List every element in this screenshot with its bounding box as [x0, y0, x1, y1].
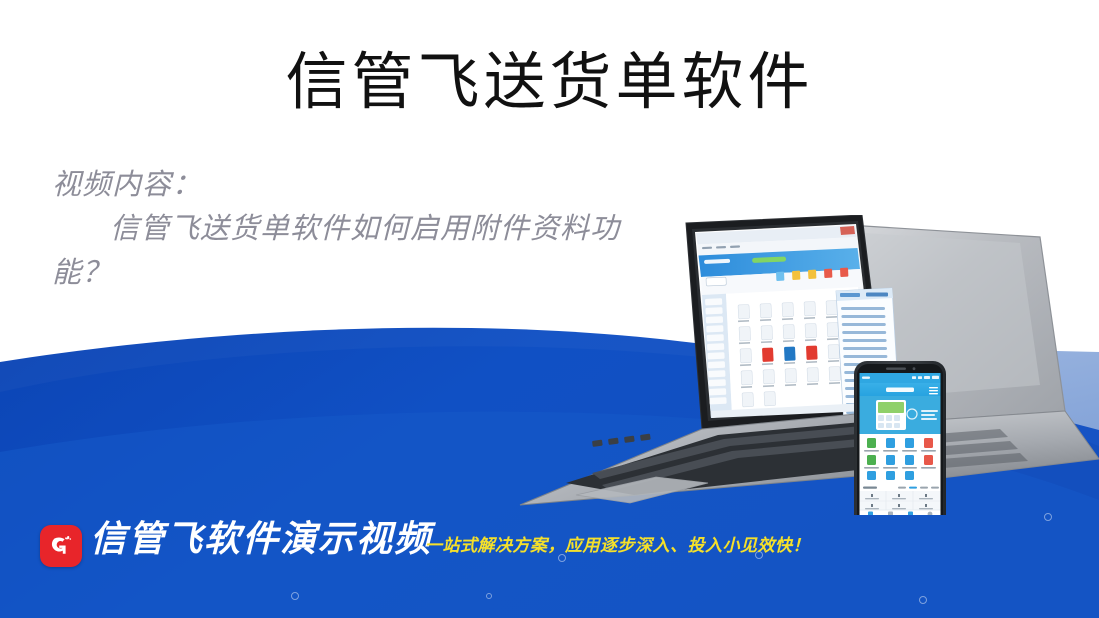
bottom-banner: 信管飞软件演示视频 一站式解决方案，应用逐步深入、投入小见效快！: [0, 525, 1099, 585]
phone-icon-grid: [860, 434, 941, 482]
hamburger-icon: [929, 387, 938, 394]
decor-dot: [919, 596, 927, 604]
slide-canvas: 信管飞送货单软件 视频内容： 信管飞送货单软件如何启用附件资料功能？ 信管飞软件…: [0, 0, 1099, 618]
page-title: 信管飞送货单软件: [0, 47, 1099, 119]
phone-app-header: [860, 373, 941, 396]
video-content-block: 视频内容： 信管飞送货单软件如何启用附件资料功能？: [52, 162, 652, 294]
decor-dot: [486, 593, 492, 599]
xinguanfei-bird-logo-icon: [40, 525, 82, 567]
smartphone: [854, 361, 946, 515]
brand-name: 信管飞软件演示视频: [90, 519, 432, 561]
video-content-label: 视频内容：: [52, 162, 652, 206]
phone-bottom-nav: [860, 510, 941, 515]
phone-stats-panel: [860, 484, 941, 510]
decor-dot: [291, 592, 299, 600]
video-content-description: 信管飞送货单软件如何启用附件资料功能？: [52, 206, 652, 294]
phone-banner-card: [860, 396, 941, 434]
banner-tagline: 一站式解决方案，应用逐步深入、投入小见效快！: [425, 535, 810, 557]
laptop-key: [592, 434, 651, 447]
